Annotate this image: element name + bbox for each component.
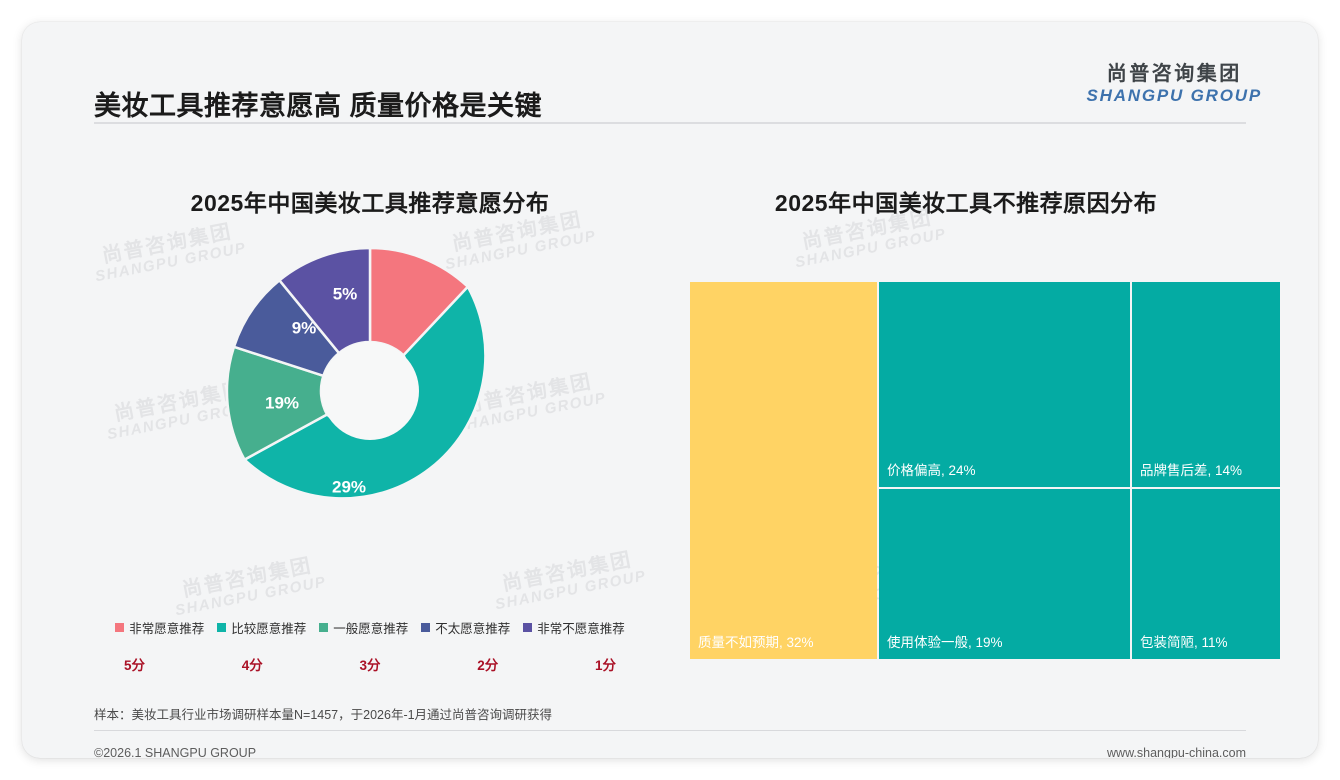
treemap-cell-packaging[interactable]: 包装简陋, 11% [1132, 489, 1280, 659]
legend-swatch-icon [421, 623, 430, 632]
donut-chart-title: 2025年中国美妆工具推荐意愿分布 [78, 184, 662, 218]
score-label-1: 1分 [595, 654, 616, 674]
slide-card: 尚普咨询集团 SHANGPU GROUP 尚普咨询集团 SHANGPU GROU… [22, 22, 1318, 758]
treemap-cell-label: 质量不如预期, 32% [698, 631, 814, 651]
treemap-column-right: 品牌售后差, 14% 包装简陋, 11% [1132, 282, 1280, 659]
legend-label: 比较愿意推荐 [231, 618, 306, 637]
treemap-cell-label: 包装简陋, 11% [1140, 631, 1228, 651]
legend-swatch-icon [115, 623, 124, 632]
legend-label: 不太愿意推荐 [435, 618, 510, 637]
legend-item-neutral-willing[interactable]: 一般愿意推荐 [319, 618, 408, 637]
legend-swatch-icon [217, 623, 226, 632]
donut-slice-label: 29% [332, 477, 366, 496]
score-label-5: 5分 [124, 654, 145, 674]
slide-footer: ©2026.1 SHANGPU GROUP www.shangpu-china.… [94, 738, 1246, 758]
treemap-cell-label: 使用体验一般, 19% [887, 631, 1003, 651]
treemap-chart-panel: 2025年中国美妆工具不推荐原因分布 质量不如预期, 32% 价格偏高, 24%… [670, 146, 1262, 686]
logo-text-en: SHANGPU GROUP [1087, 87, 1262, 105]
treemap-cell-quality[interactable]: 质量不如预期, 32% [690, 282, 877, 659]
score-label-3: 3分 [359, 654, 380, 674]
treemap-cell-aftersales[interactable]: 品牌售后差, 14% [1132, 282, 1280, 487]
treemap-cell-label: 价格偏高, 24% [887, 459, 976, 479]
footer-divider [94, 730, 1246, 731]
treemap-column-middle: 价格偏高, 24% 使用体验一般, 19% [879, 282, 1130, 659]
page-title: 美妆工具推荐意愿高 质量价格是关键 [94, 84, 542, 123]
legend-label: 非常不愿意推荐 [537, 618, 625, 637]
legend-swatch-icon [523, 623, 532, 632]
legend-swatch-icon [319, 623, 328, 632]
donut-legend: 非常愿意推荐 比较愿意推荐 一般愿意推荐 不太愿意推荐 非常不愿意推荐 [78, 618, 662, 637]
donut-svg: 38% 29% 19% 9% 5% [210, 236, 530, 546]
donut-hole [321, 342, 419, 440]
legend-item-fairly-willing[interactable]: 比较愿意推荐 [217, 618, 306, 637]
score-label-2: 2分 [477, 654, 498, 674]
slide-canvas: 尚普咨询集团 SHANGPU GROUP 尚普咨询集团 SHANGPU GROU… [0, 0, 1340, 780]
treemap-column-left: 质量不如预期, 32% [690, 282, 877, 659]
legend-label: 一般愿意推荐 [333, 618, 408, 637]
donut-slice-label: 5% [333, 284, 358, 303]
donut-chart-panel: 2025年中国美妆工具推荐意愿分布 38% 29% 19% [78, 146, 662, 686]
copyright-text: ©2026.1 SHANGPU GROUP [94, 746, 256, 758]
treemap-cell-label: 品牌售后差, 14% [1140, 459, 1242, 479]
sample-note-text: 样本：美妆工具行业市场调研样本量N=1457，于2026年-1月通过尚普咨询调研… [94, 708, 552, 722]
logo-text-cn: 尚普咨询集团 [1087, 64, 1262, 85]
slide-header: 美妆工具推荐意愿高 质量价格是关键 尚普咨询集团 SHANGPU GROUP [22, 22, 1318, 118]
donut-chart: 38% 29% 19% 9% 5% [78, 236, 662, 546]
legend-label: 非常愿意推荐 [129, 618, 204, 637]
score-scale-row: 5分 4分 3分 2分 1分 [124, 654, 616, 674]
treemap-cell-experience[interactable]: 使用体验一般, 19% [879, 489, 1130, 659]
donut-slice-label: 19% [265, 393, 299, 412]
treemap-cell-price[interactable]: 价格偏高, 24% [879, 282, 1130, 487]
brand-logo: 尚普咨询集团 SHANGPU GROUP [1087, 64, 1262, 105]
treemap-chart-title: 2025年中国美妆工具不推荐原因分布 [670, 184, 1262, 218]
website-link[interactable]: www.shangpu-china.com [1107, 746, 1246, 758]
legend-item-not-very-willing[interactable]: 不太愿意推荐 [421, 618, 510, 637]
treemap-chart: 质量不如预期, 32% 价格偏高, 24% 使用体验一般, 19% 品牌售后差,… [690, 282, 1280, 659]
score-label-4: 4分 [242, 654, 263, 674]
legend-item-very-unwilling[interactable]: 非常不愿意推荐 [523, 618, 625, 637]
sample-note: 样本：美妆工具行业市场调研样本量N=1457，于2026年-1月通过尚普咨询调研… [94, 704, 1246, 724]
legend-item-very-willing[interactable]: 非常愿意推荐 [115, 618, 204, 637]
